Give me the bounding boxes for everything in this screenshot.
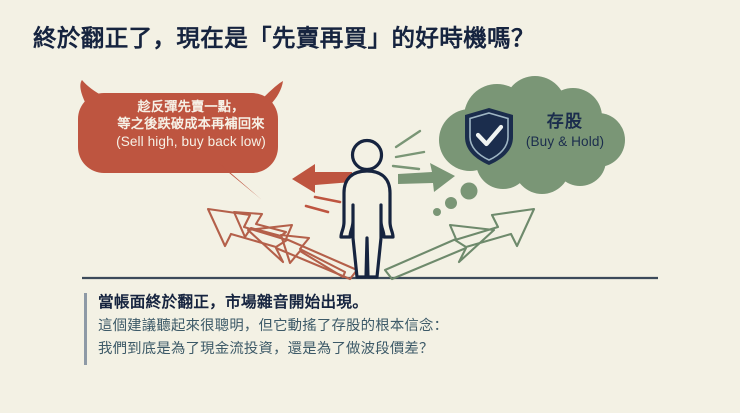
arrow-up-right-outline-head: [455, 209, 534, 247]
arrow-up-left-outline-icon: [234, 212, 345, 277]
caption-accent-rule: [84, 293, 87, 365]
devil-bubble: [78, 80, 283, 200]
caption-block: 當帳面終於翻正，市場雜音開始出現。 這個建議聽起來很聰明，但它動搖了存股的根本信…: [84, 291, 644, 361]
caption-headline: 當帳面終於翻正，市場雜音開始出現。: [98, 291, 644, 315]
emphasis-lines: [393, 131, 424, 169]
devil-bubble-body: [78, 93, 278, 173]
thought-dot-medium: [445, 197, 457, 209]
thought-dot-small: [433, 208, 441, 216]
hold-cloud: [433, 76, 625, 216]
person-standing-icon: [341, 141, 393, 278]
thought-dot-large: [461, 183, 478, 200]
infographic-canvas: 終於翻正了，現在是「先賣再買」的好時機嗎？: [0, 0, 740, 413]
caption-body-line-2: 我們到底是為了現金流投資，還是為了做波段價差？: [98, 338, 644, 361]
caption-lines: 當帳面終於翻正，市場雜音開始出現。 這個建議聽起來很聰明，但它動搖了存股的根本信…: [98, 291, 644, 361]
caption-body-line-1: 這個建議聽起來很聰明，但它動搖了存股的根本信念：: [98, 315, 644, 338]
arrow-up-left-outline-head: [208, 209, 287, 247]
